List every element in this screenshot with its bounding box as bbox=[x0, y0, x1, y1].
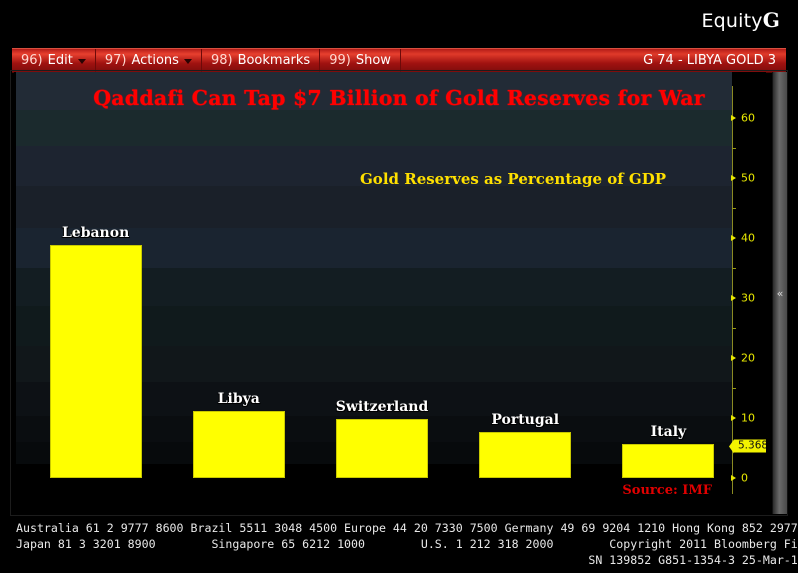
toolbar-item-actions[interactable]: 97) Actions bbox=[96, 49, 202, 72]
toolbar-spacer bbox=[401, 49, 634, 72]
footer-line-1: Australia 61 2 9777 8600 Brazil 5511 304… bbox=[16, 521, 798, 535]
toolbar-item-edit-number: 96) bbox=[21, 53, 43, 68]
toolbar-item-actions-number: 97) bbox=[105, 53, 127, 68]
toolbar-item-edit-label: Edit bbox=[48, 53, 73, 68]
chart-area: LebanonLibyaSwitzerlandPortugalItaly 010… bbox=[14, 72, 766, 514]
bar-label-libya: Libya bbox=[218, 391, 260, 407]
footer-line-2: Japan 81 3 3201 8900 Singapore 65 6212 1… bbox=[16, 537, 798, 551]
y-minor-tick bbox=[732, 208, 736, 209]
chart-subtitle: Gold Reserves as Percentage of GDP bbox=[360, 170, 666, 188]
toolbar-item-show-number: 99) bbox=[329, 53, 351, 68]
bar-portugal[interactable] bbox=[479, 432, 571, 478]
toolbar-item-bookmarks[interactable]: 98) Bookmarks bbox=[202, 49, 320, 72]
y-tick-arrow bbox=[731, 235, 736, 241]
equity-g-logo: EquityG bbox=[701, 8, 780, 32]
y-tick-arrow bbox=[731, 175, 736, 181]
toolbar-item-show-label: Show bbox=[356, 53, 391, 68]
chart-source-note: Source: IMF bbox=[622, 483, 712, 498]
toolbar-item-show[interactable]: 99) Show bbox=[320, 49, 401, 72]
logo-bar: EquityG bbox=[0, 0, 798, 44]
toolbar-item-actions-label: Actions bbox=[131, 53, 179, 68]
bar-libya[interactable] bbox=[193, 411, 285, 478]
bar-italy[interactable] bbox=[622, 444, 714, 478]
y-minor-tick bbox=[732, 388, 736, 389]
footer-line-3: SN 139852 G851-1354-3 25-Mar-11 11:48:32 bbox=[16, 553, 798, 567]
bar-label-portugal: Portugal bbox=[491, 412, 559, 428]
chart-background-band bbox=[16, 110, 732, 146]
y-tick-label-40: 40 bbox=[741, 232, 755, 245]
toolbar-item-bookmarks-label: Bookmarks bbox=[238, 53, 311, 68]
toolbar-item-bookmarks-number: 98) bbox=[211, 53, 233, 68]
security-ticker-label: G 74 - LIBYA GOLD 3 bbox=[634, 49, 786, 72]
y-tick-label-10: 10 bbox=[741, 412, 755, 425]
current-value-flag: 5.3684 bbox=[734, 439, 766, 452]
chevron-down-icon bbox=[184, 59, 192, 64]
bar-label-italy: Italy bbox=[651, 424, 687, 440]
chevron-left-double-icon: « bbox=[777, 287, 784, 300]
y-tick-label-30: 30 bbox=[741, 292, 755, 305]
y-tick-label-60: 60 bbox=[741, 112, 755, 125]
y-tick-arrow bbox=[731, 475, 736, 481]
y-tick-arrow bbox=[731, 115, 736, 121]
logo-bold-g: G bbox=[763, 8, 780, 32]
y-tick-label-50: 50 bbox=[741, 172, 755, 185]
logo-text: Equity bbox=[701, 10, 762, 32]
bar-switzerland[interactable] bbox=[336, 419, 428, 478]
footer-contact-bar: Australia 61 2 9777 8600 Brazil 5511 304… bbox=[0, 516, 798, 573]
bar-label-lebanon: Lebanon bbox=[62, 225, 129, 241]
y-minor-tick bbox=[732, 328, 736, 329]
y-tick-arrow bbox=[731, 415, 736, 421]
plot-region: LebanonLibyaSwitzerlandPortugalItaly bbox=[16, 72, 732, 514]
toolbar-item-edit[interactable]: 96) Edit bbox=[12, 49, 96, 72]
y-tick-arrow bbox=[731, 295, 736, 301]
y-tick-label-20: 20 bbox=[741, 352, 755, 365]
y-tick-arrow bbox=[731, 355, 736, 361]
bloomberg-terminal-window: EquityG 96) Edit 97) Actions 98) Bookmar… bbox=[0, 0, 798, 573]
function-toolbar: 96) Edit 97) Actions 98) Bookmarks 99) S… bbox=[12, 48, 786, 73]
chart-title: Qaddafi Can Tap $7 Billion of Gold Reser… bbox=[0, 86, 798, 110]
y-tick-label-0: 0 bbox=[741, 472, 748, 485]
panel-collapse-bar[interactable]: « bbox=[772, 72, 788, 514]
chart-background-band bbox=[16, 186, 732, 228]
y-minor-tick bbox=[732, 268, 736, 269]
y-axis: 01020304050605.3684 bbox=[732, 72, 766, 514]
bar-lebanon[interactable] bbox=[50, 245, 142, 478]
chevron-down-icon bbox=[78, 59, 86, 64]
bar-label-switzerland: Switzerland bbox=[336, 399, 429, 415]
y-minor-tick bbox=[732, 148, 736, 149]
